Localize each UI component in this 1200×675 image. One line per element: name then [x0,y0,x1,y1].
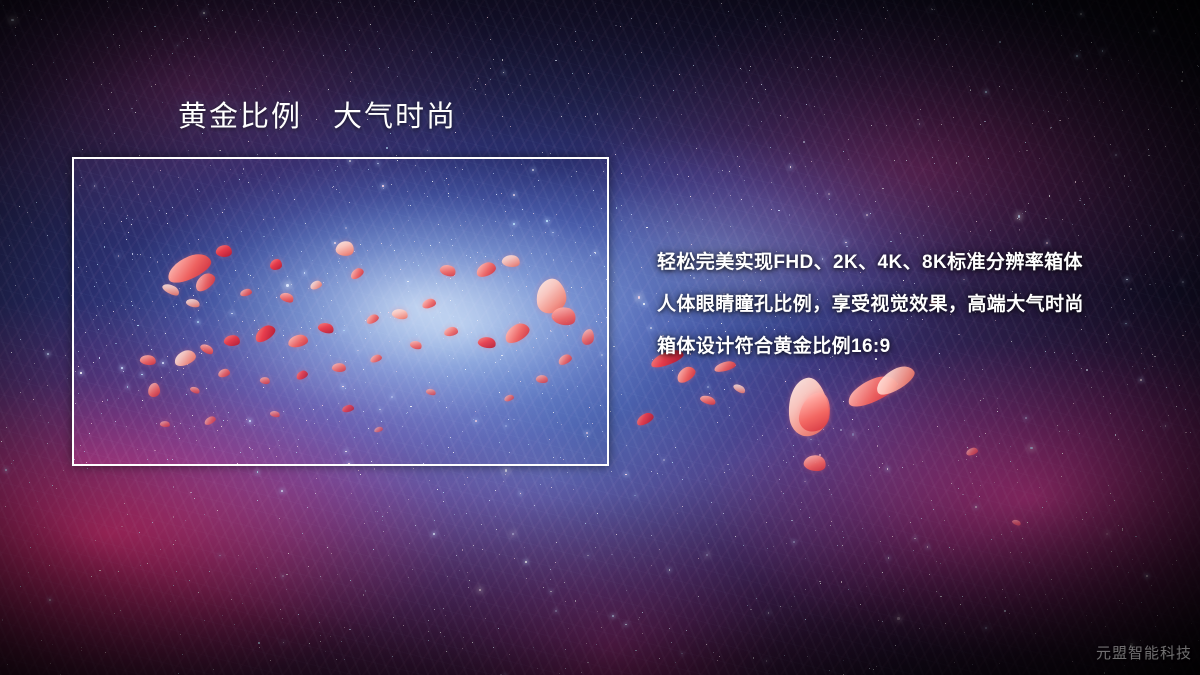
body-copy: 轻松完美实现FHD、2K、4K、8K标准分辨率箱体 人体眼睛瞳孔比例，享受视觉效… [657,252,1157,358]
body-line-1: 轻松完美实现FHD、2K、4K、8K标准分辨率箱体 [657,252,1157,274]
frame-petal-field [74,159,607,464]
body-line-2: 人体眼睛瞳孔比例，享受视觉效果，高端大气时尚 [657,294,1157,316]
page-title: 黄金比例 大气时尚 [178,100,457,134]
watermark-label: 元盟智能科技 [1096,645,1192,663]
frame-starfield [74,159,607,464]
frame-nebula-wisp [74,159,607,464]
frame-nebula-red [74,159,607,464]
slide-canvas: 黄金比例 大气时尚 轻松完美实现FHD、2K、4K、8K标准分辨率箱体 人体眼睛… [0,0,1200,675]
frame-nebula-base [74,159,607,464]
frame-nebula-blue [74,159,607,464]
framed-image [72,157,609,466]
body-line-3: 箱体设计符合黄金比例16:9 [657,336,1157,358]
framed-image-inner [74,159,607,464]
